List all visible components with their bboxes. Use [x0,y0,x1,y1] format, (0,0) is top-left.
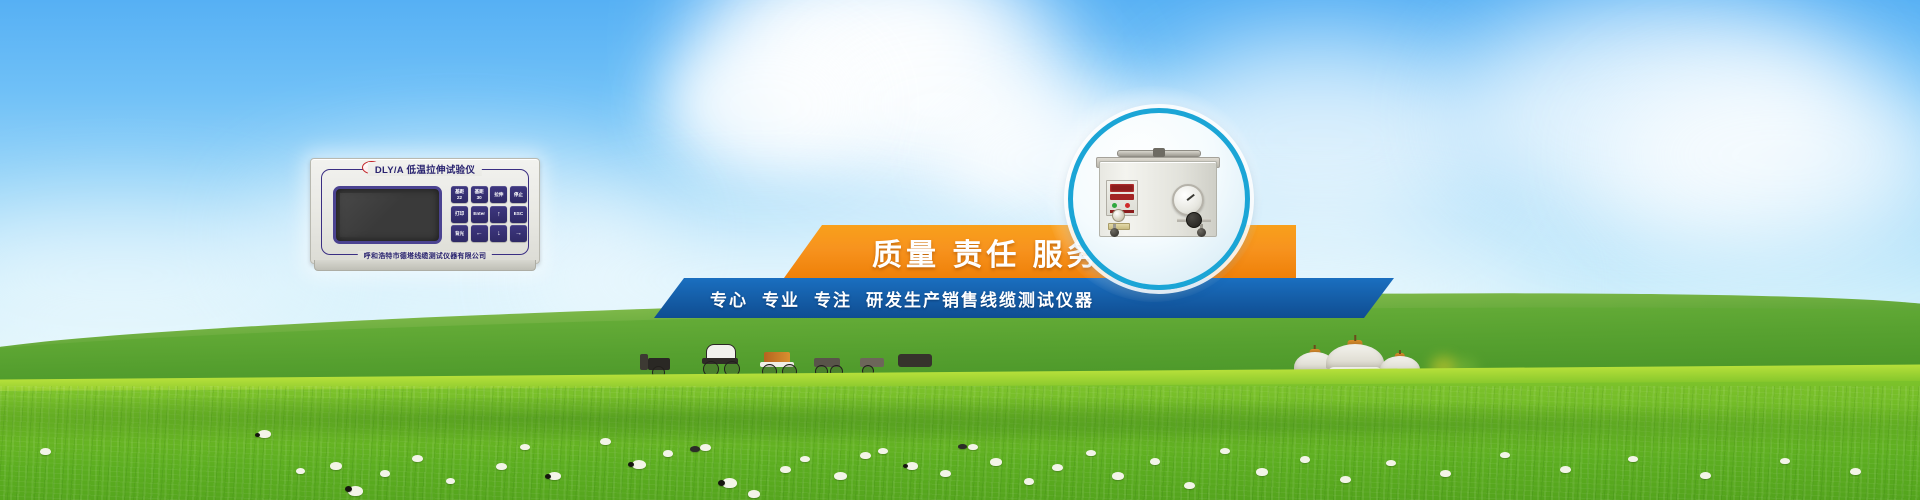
key-arrow-left[interactable]: ← [471,225,488,242]
caster-wheel-icon [1110,224,1119,237]
instrument-base [314,260,536,271]
slogan-word-1: 专心 [710,291,748,310]
slogan-word-3: 专注 [814,291,852,310]
small-dial-icon [1112,209,1125,222]
led-green-icon [1112,203,1117,208]
product-photo-circle [1068,108,1250,290]
key-esc[interactable]: ESC [510,206,527,223]
caster-wheel-icon [1197,224,1206,237]
key-backlight[interactable]: 背光 [451,225,468,242]
cloud-shape [660,30,870,180]
key-print[interactable]: 打印 [451,206,468,223]
instrument-display [333,186,442,244]
pressure-gauge-icon [1172,184,1204,216]
product-instrument: DLY/A 低温拉伸试验仪 基距 22 基距 30 拉伸 停止 打印 Enter… [310,158,538,270]
slogan-secondary-text: 专心专业专注研发生产销售线缆测试仪器 [710,286,1094,311]
key-arrow-down[interactable]: ↓ [490,225,507,242]
key-enter[interactable]: Enter [471,206,488,223]
instrument-keypad[interactable]: 基距 22 基距 30 拉伸 停止 打印 Enter ↑ ESC 背光 ← ↓ … [451,186,527,242]
slogan-ribbon-secondary: 专心专业专注研发生产销售线缆测试仪器 [654,278,1394,318]
key-base-22[interactable]: 基距 22 [451,186,468,203]
slogan-word-2: 专业 [762,291,800,310]
instrument-model-title: DLY/A 低温拉伸试验仪 [368,162,482,176]
key-stop[interactable]: 停止 [510,186,527,203]
promo-banner: DLY/A 低温拉伸试验仪 基距 22 基距 30 拉伸 停止 打印 Enter… [0,0,1920,500]
test-chamber-unit [1099,153,1215,241]
digital-display-secondary [1110,194,1134,200]
instrument-case: DLY/A 低温拉伸试验仪 基距 22 基距 30 拉伸 停止 打印 Enter… [310,158,540,264]
chamber-cabinet [1099,161,1217,237]
key-base-30[interactable]: 基距 30 [471,186,488,203]
led-red-icon [1125,203,1130,208]
chamber-handle [1117,150,1201,157]
grass-shading [0,398,1920,448]
slogan-word-4: 研发生产销售线缆测试仪器 [866,291,1094,310]
key-stretch[interactable]: 拉伸 [490,186,507,203]
key-arrow-right[interactable]: → [510,225,527,242]
key-arrow-up[interactable]: ↑ [490,206,507,223]
digital-display-primary [1110,184,1134,192]
